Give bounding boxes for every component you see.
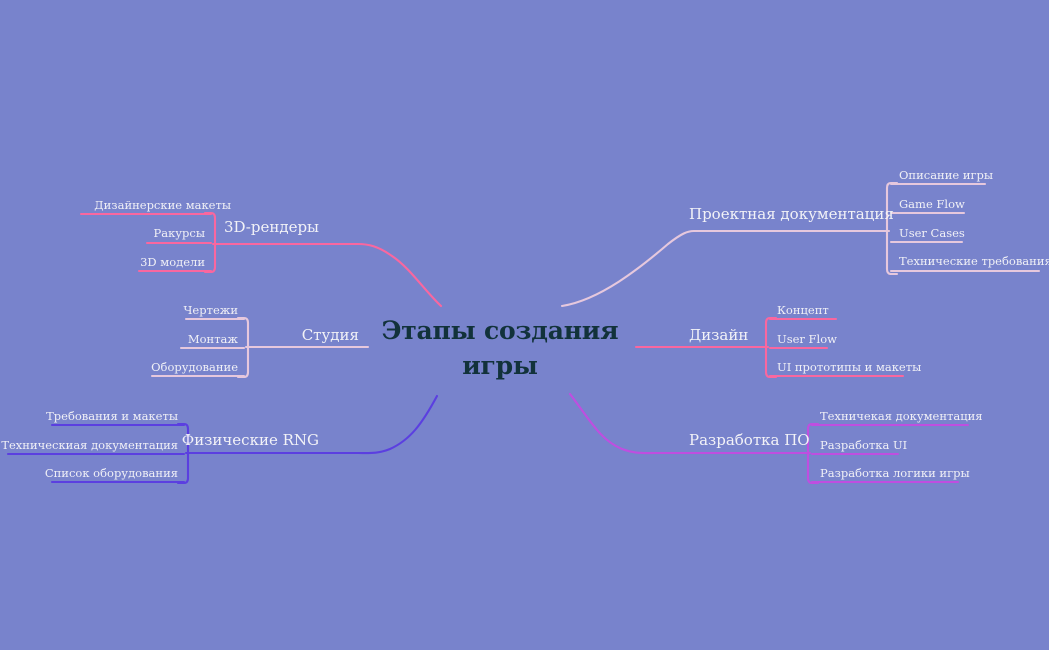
- leaf-tehnicheskie-trebovaniya[interactable]: Технические требования: [899, 254, 1049, 268]
- leaf-montazh[interactable]: Монтаж: [188, 332, 238, 346]
- branch-label-studiya[interactable]: Студия: [302, 326, 359, 344]
- leaf-opisanie-igry[interactable]: Описание игры: [899, 168, 993, 182]
- branch-label-fizicheskie-rng[interactable]: Физические RNG: [182, 431, 319, 449]
- leaf-trebovaniya-i-makety[interactable]: Требования и макеты: [46, 409, 178, 423]
- leaf-koncept[interactable]: Концепт: [777, 303, 829, 317]
- leaf-dizaynerskie-makety[interactable]: Дизайнерские макеты: [94, 198, 231, 212]
- leaf-spisok-oborudovaniya[interactable]: Список оборудования: [45, 466, 178, 480]
- connector-proektnaya-dokumentaciya: [562, 183, 1039, 306]
- leaf-ui-prototipy-i-makety[interactable]: UI прототипы и макеты: [777, 360, 921, 374]
- leaf-oborudovanie[interactable]: Оборудование: [151, 360, 238, 374]
- branch-label-3d-rendery[interactable]: 3D-рендеры: [224, 218, 319, 236]
- central-topic[interactable]: Этапы создания игры: [375, 314, 625, 383]
- branch-label-razrabotka-po[interactable]: Разработка ПО: [689, 431, 810, 449]
- leaf-user-flow[interactable]: User Flow: [777, 332, 837, 346]
- leaf-chertezhi[interactable]: Чертежи: [184, 303, 238, 317]
- leaf-tehnicheskiaya-dokumentaciya[interactable]: Техническиая документация: [1, 438, 178, 452]
- branch-label-proektnaya-dokumentaciya[interactable]: Проектная документация: [689, 205, 894, 223]
- branch-label-dizayn[interactable]: Дизайн: [689, 326, 748, 344]
- leaf-3d-modeli[interactable]: 3D модели: [140, 255, 205, 269]
- leaf-razrabotka-ui[interactable]: Разработка UI: [820, 438, 907, 452]
- leaf-tehnichekaya-dokumentaciya[interactable]: Техничекая документация: [820, 409, 983, 423]
- mindmap-canvas: Этапы создания игры Проектная документац…: [0, 0, 1049, 650]
- leaf-rakursy[interactable]: Ракурсы: [153, 226, 205, 240]
- leaf-game-flow[interactable]: Game Flow: [899, 197, 965, 211]
- leaf-user-cases[interactable]: User Cases: [899, 226, 965, 240]
- leaf-razrabotka-logiki-igry[interactable]: Разработка логики игры: [820, 466, 970, 480]
